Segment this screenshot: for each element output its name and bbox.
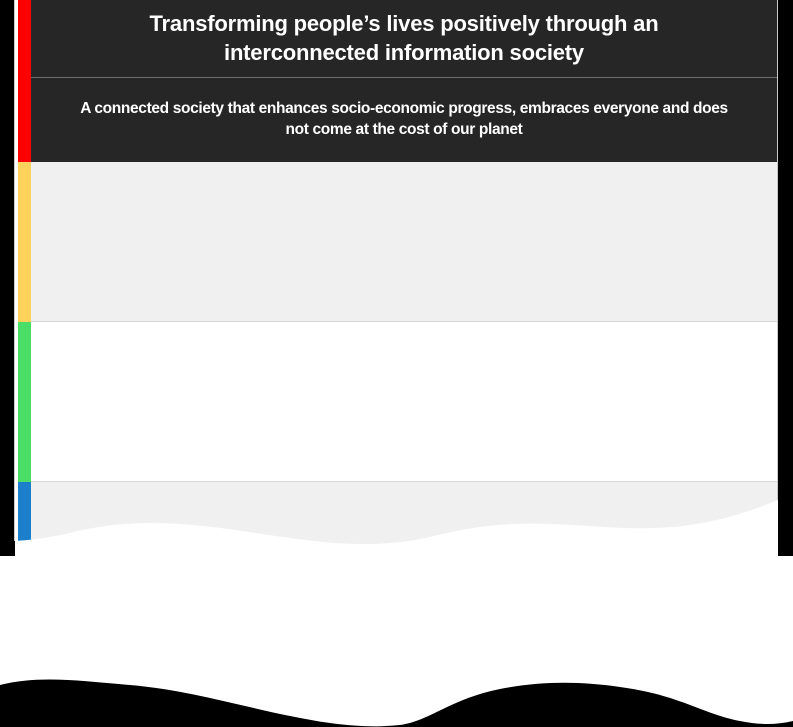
- rail-segment-mission: [18, 162, 31, 322]
- page-root: Transforming people’s lives positively t…: [0, 0, 793, 727]
- rail-segment-pillars: [18, 322, 31, 482]
- vision-subtitle: A connected society that enhances socio-…: [69, 99, 739, 141]
- mission-band: [31, 162, 777, 322]
- rail-segment-vision: [18, 0, 31, 162]
- rail-segment-enablers: [18, 482, 31, 556]
- mission-band-content: [31, 162, 777, 321]
- bottom-wave-decoration: [0, 637, 793, 727]
- pillars-band: [31, 322, 777, 482]
- page-frame-right: [778, 0, 793, 556]
- enablers-band-content: [31, 482, 777, 556]
- vision-title-row: Transforming people’s lives positively t…: [31, 0, 777, 78]
- page-frame-left: [0, 0, 15, 556]
- pillars-band-content: [31, 322, 777, 481]
- enablers-band: [31, 482, 777, 556]
- vision-title: Transforming people’s lives positively t…: [91, 10, 717, 66]
- strategy-card: Transforming people’s lives positively t…: [14, 0, 778, 556]
- vision-subtitle-row: A connected society that enhances socio-…: [31, 78, 777, 162]
- vision-band: Transforming people’s lives positively t…: [31, 0, 777, 162]
